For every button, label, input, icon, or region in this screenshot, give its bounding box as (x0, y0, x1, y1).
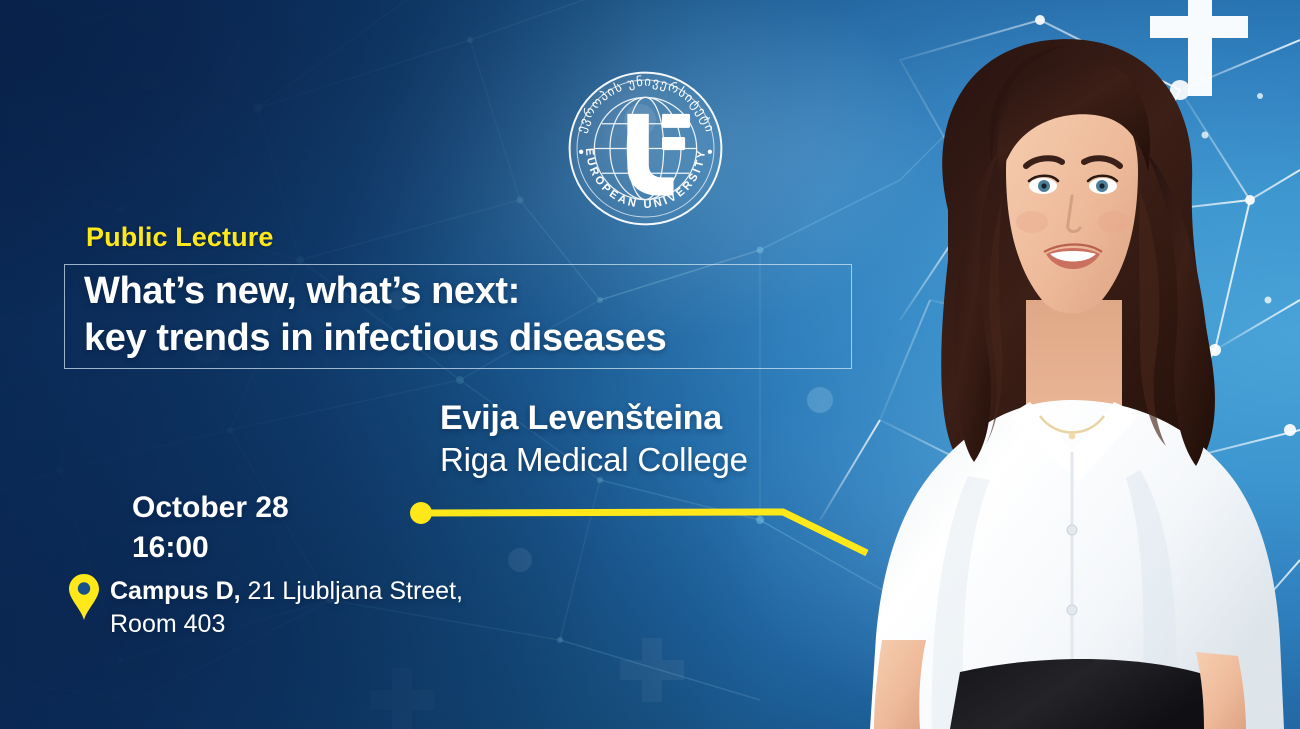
event-time: 16:00 (132, 528, 289, 568)
event-date: October 28 (132, 488, 289, 528)
speaker-organization: Riga Medical College (440, 442, 860, 478)
event-datetime: October 28 16:00 (132, 488, 289, 568)
venue-campus: Campus D, (110, 577, 241, 605)
lecture-poster: ევროპის უნივერსიტეტი EUROPEAN UNIVERSITY… (0, 0, 1300, 729)
speaker-name: Evija Levenšteina (440, 400, 860, 437)
location-pin-icon (68, 573, 100, 621)
title-line-2: key trends in infectious diseases (84, 315, 884, 362)
speaker-block: Evija Levenšteina Riga Medical College (440, 400, 860, 477)
presenter-photo (840, 0, 1300, 729)
venue-room: Room 403 (110, 610, 225, 638)
page-title: What’s new, what’s next: key trends in i… (84, 268, 884, 362)
venue-street: 21 Ljubljana Street, (241, 577, 463, 605)
kicker-label: Public Lecture (86, 222, 273, 253)
venue-address: Campus D, 21 Ljubljana Street, Room 403 (110, 575, 630, 641)
title-line-1: What’s new, what’s next: (84, 270, 520, 312)
university-logo: ევროპის უნივერსიტეტი EUROPEAN UNIVERSITY (563, 66, 728, 231)
